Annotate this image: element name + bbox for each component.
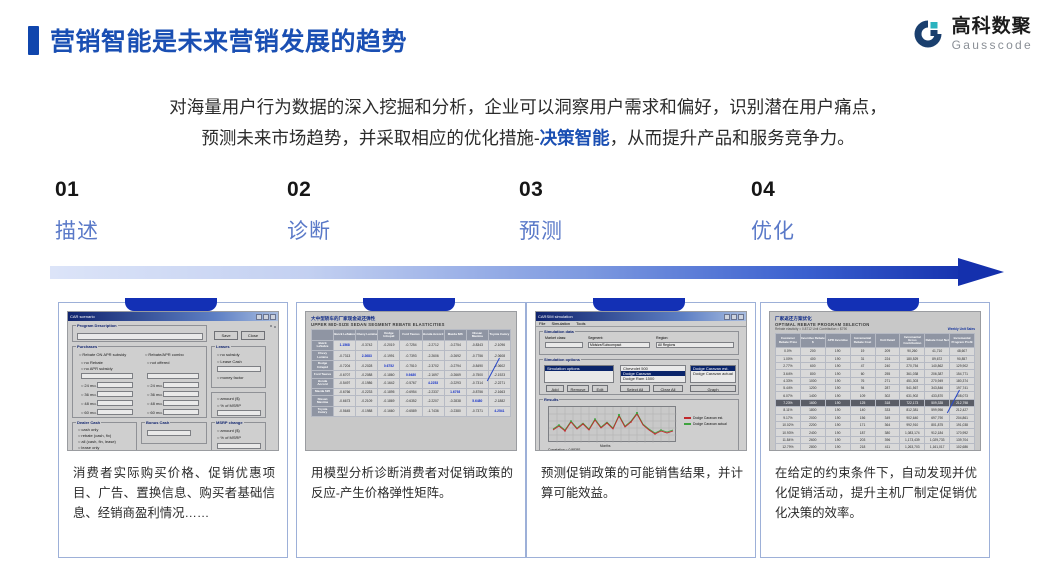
cell: -2.2606	[422, 351, 444, 361]
residual-input[interactable]	[217, 410, 261, 416]
term-36-rate-input[interactable]	[163, 391, 199, 397]
close-icon	[738, 314, 744, 320]
radio-msrp-amount[interactable]: amount ($)	[217, 428, 240, 433]
cell: 200	[800, 348, 825, 355]
cell: 197,741	[950, 385, 975, 392]
cell: 190	[825, 377, 850, 384]
group-label: Dealer Cash	[76, 420, 101, 425]
radio-residual-pct[interactable]: % of MSRP	[217, 403, 241, 408]
market-class-select[interactable]	[545, 342, 583, 348]
table-row: 9.17%2000190156349902,640697,790204,861	[776, 414, 975, 421]
row-header: Toyota Camry	[312, 406, 334, 416]
dialog-body: Program Description Save Close Purchases…	[68, 321, 278, 450]
list-item[interactable]: Dodge Caravan actual	[691, 371, 735, 376]
group-results: Results	[539, 399, 739, 451]
cell: 396	[875, 436, 900, 443]
cell: 1,263,703	[900, 444, 925, 451]
close-icon	[270, 314, 276, 320]
group-label: MSRP change	[215, 420, 244, 425]
row-header: Ford Taurus	[312, 371, 334, 378]
save-button[interactable]: Save	[214, 331, 238, 340]
table-row: 8.11%1800190140333812,381599,956212,427	[776, 407, 975, 414]
menu-tools[interactable]: Tools	[576, 321, 585, 326]
cell: 224	[875, 355, 900, 362]
cell: 1600	[800, 399, 825, 406]
cell: 190	[825, 399, 850, 406]
legend-label: Dodge Caravan est.	[693, 416, 723, 420]
minimize-icon	[256, 314, 262, 320]
card-screenshot-simulation: CARSIM simulation File Simulation Tools …	[535, 311, 747, 451]
term-label: 36 mo.	[147, 392, 163, 397]
cell: 0.0%	[776, 348, 801, 355]
chart-xlabel: Months	[600, 444, 610, 448]
cell: 190	[825, 429, 850, 436]
cell: 47	[850, 362, 875, 369]
cell: -0.1660	[378, 406, 400, 416]
output-list[interactable]: Dodge Caravan est. Dodge Caravan actual	[690, 365, 736, 383]
cell: 190	[825, 414, 850, 421]
table-row: 2.77%60019047240270,754140,862129,902	[776, 362, 975, 369]
cell: -0.7371	[466, 406, 488, 416]
optimization-table: Customer Rebate Price Incentive Rebate $…	[775, 333, 975, 451]
table-row: 11.84%26001902033961,173,4391,029,733139…	[776, 436, 975, 443]
step-label: 诊断	[287, 215, 517, 245]
step-02: 02 诊断	[287, 178, 517, 245]
list-item[interactable]: Ford Ranger	[621, 382, 685, 383]
logo-name-en: Gausscode	[952, 39, 1033, 51]
cell: -0.3742	[356, 340, 378, 350]
step-list: 01 描述 02 诊断 03 预测 04 优化	[55, 178, 1007, 248]
elasticity-matrix: 大中型轿车的厂家现金返还弹性 UPPER MID-SIZE SEDAN SEGM…	[306, 312, 516, 450]
lead-paragraph: 对海量用户行为数据的深入挖掘和分析，企业可以洞察用户需求和偏好，识别潜在用户痛点…	[52, 92, 1004, 154]
cell: -0.7314	[466, 378, 488, 388]
program-description-input[interactable]	[77, 333, 203, 340]
cell: 191,038	[950, 421, 975, 428]
radio-no-subsidy[interactable]: no subsidy	[217, 352, 240, 357]
cell: 4.33%	[776, 377, 801, 384]
cell: 270,754	[900, 362, 925, 369]
cell: 0.6752	[378, 361, 400, 371]
term-label: 60 mo.	[81, 410, 97, 415]
lead-line-2-before: 预测未来市场趋势，并采取相应的优化措施-	[201, 128, 539, 148]
card-caption: 预测促销政策的可能销售结果，并计算可能效益。	[541, 463, 743, 503]
page-title: 营销智能是未来营销发展的趋势	[28, 22, 407, 58]
cell: 102,686	[950, 444, 975, 451]
cell: 8.11%	[776, 407, 801, 414]
purchases-left-label: Rebate ON APR subsidy	[79, 352, 126, 357]
dialog-titlebar: CAR scenario	[68, 312, 278, 321]
progression-arrow	[50, 258, 1005, 288]
cell: 89,672	[925, 355, 950, 362]
radio-lease-only[interactable]: lease only	[78, 445, 99, 450]
prediction-chart	[548, 406, 676, 442]
radio-rebate-cash-fix[interactable]: rebate (cash, fix)	[78, 433, 111, 438]
simulation-titlebar: CARSIM simulation	[536, 312, 746, 321]
group-simulation-data: Simulation data Market class: Segment: M…	[539, 331, 739, 355]
cell: -0.7756	[466, 351, 488, 361]
logo-text: 高科数聚 Gausscode	[952, 17, 1033, 51]
cell: 2800	[800, 444, 825, 451]
cell: 1,029,733	[925, 436, 950, 443]
remove-button[interactable]: Remove	[567, 385, 589, 392]
opt-subtitle-right: Weekly Unit Sales	[948, 327, 975, 331]
group-program-description: Program Description	[72, 325, 207, 342]
cell: 209	[875, 348, 900, 355]
lead-line-2-after: ，从而提升产品和服务竞争力。	[610, 128, 855, 148]
cell: -0.2028	[356, 361, 378, 371]
cell: 5.6480	[466, 396, 488, 406]
cell: 204,861	[950, 414, 975, 421]
region-select[interactable]: All Regions	[656, 342, 734, 348]
card-predict[interactable]: CARSIM simulation File Simulation Tools …	[526, 302, 756, 558]
card-optimize[interactable]: 厂家返还方案优化 OPTIMAL REBATE PROGRAM SELECTIO…	[760, 302, 990, 558]
table-row: 10.02%2200190171364992,910801,875191,038	[776, 421, 975, 428]
minimize-icon	[724, 314, 730, 320]
legend-item: Dodge Caravan actual	[684, 422, 727, 426]
cell: 1200	[800, 385, 825, 392]
cell: -0.7204	[334, 361, 356, 371]
cell: 190	[825, 436, 850, 443]
col-header: Chevy Lumina	[356, 330, 378, 341]
cell: -0.2019	[378, 340, 400, 350]
cell: 5.44%	[776, 385, 801, 392]
cell: 433,870	[925, 392, 950, 399]
model-list[interactable]: Chevrolet 500 Dodge Caravan Dodge Ram 15…	[620, 365, 686, 383]
radio-residual-amount[interactable]: amount ($)	[217, 396, 240, 401]
lease-cash-input[interactable]	[217, 366, 261, 372]
cell: -0.2838	[444, 396, 466, 406]
radio-msrp-pct[interactable]: % of MSRP	[217, 435, 241, 440]
chart-legend: Dodge Caravan est. Dodge Caravan actual	[684, 416, 727, 426]
card-caption: 消费者实际购买价格、促销优惠项目、广告、置换信息、购买者基础信息、经销商盈利情况…	[73, 463, 275, 523]
legacy-dialog-window: CAR scenario Program Description Save Cl…	[68, 312, 278, 450]
cell: -2.2271	[488, 378, 510, 388]
cell: -0.6954	[400, 388, 422, 395]
card-screenshot-dialog: CAR scenario Program Description Save Cl…	[67, 311, 279, 451]
step-number: 01	[55, 178, 285, 202]
cell: -0.1895	[378, 388, 400, 395]
cell: -2.1882	[488, 396, 510, 406]
cell: -0.6707	[334, 371, 356, 378]
spacer-2	[274, 326, 276, 328]
card-tab-marker	[593, 298, 685, 311]
col-header: Customer Rebate Price	[776, 334, 801, 348]
cell: 1.00%	[776, 355, 801, 362]
cell: 697,790	[925, 414, 950, 421]
cell: 451,303	[900, 377, 925, 384]
term-48-input[interactable]	[97, 400, 133, 406]
cell: -0.1988	[356, 406, 378, 416]
term-36-input[interactable]	[97, 391, 133, 397]
cell: 125	[850, 399, 875, 406]
combo-value-input[interactable]	[147, 373, 199, 379]
radio-no-rebate[interactable]: no Rebate	[81, 360, 103, 365]
cell: 2.77%	[776, 362, 801, 369]
radio-no-apr-subsidy[interactable]: no APR subsidy	[81, 366, 113, 371]
cell: 1.6793	[444, 388, 466, 395]
step-number: 04	[751, 178, 981, 202]
cell: -0.1986	[356, 378, 378, 388]
group-dealer-cash: Dealer Cash cash only rebate (cash, fix)…	[72, 422, 137, 451]
cell: 190	[825, 444, 850, 451]
table-row: 5.44%120019094287541,567343,846197,741	[776, 385, 975, 392]
cell: -0.5497	[334, 378, 356, 388]
cell: 60	[850, 370, 875, 377]
cell: 190	[825, 385, 850, 392]
card-list: CAR scenario Program Description Save Cl…	[0, 296, 1051, 564]
cell: 7.23%	[776, 399, 801, 406]
menu-simulation[interactable]: Simulation	[551, 321, 570, 326]
arrow-head-icon	[958, 258, 1004, 286]
cell: -2.1663	[488, 388, 510, 395]
group-label: Bonus Cash	[145, 420, 170, 425]
cell: 509,335	[925, 399, 950, 406]
table-row: 0.0%2001901920990,26041,71048,607	[776, 348, 975, 355]
table-row: Toyota Camry -0.5645-0.1988-0.1660-0.658…	[312, 406, 511, 416]
legend-item: Dodge Caravan est.	[684, 416, 727, 420]
cell: 302	[875, 392, 900, 399]
opt-subtitle-left: Rebate elasticity = 0.8712 Unit Contribu…	[775, 327, 847, 331]
cell: 203	[850, 436, 875, 443]
bonus-cash-input[interactable]	[147, 430, 191, 436]
term-label: 24 mo.	[81, 383, 97, 388]
group-label: Simulation data	[543, 329, 575, 334]
segment-label: Segment:	[588, 336, 603, 340]
cell: 11.84%	[776, 436, 801, 443]
cell: 343,846	[925, 385, 950, 392]
cell: -0.1860	[378, 371, 400, 378]
cell: 287	[875, 385, 900, 392]
title-text: 营销智能是未来营销发展的趋势	[50, 22, 407, 58]
col-header: Buick LeSabre	[334, 330, 356, 341]
cell: 2400	[800, 429, 825, 436]
cell: 31	[850, 355, 875, 362]
term-60-rate-input[interactable]	[163, 409, 199, 415]
step-label: 预测	[519, 215, 749, 245]
group-residual: amount ($) % of MSRP	[211, 392, 266, 418]
cell: -0.8343	[466, 340, 488, 350]
cell: 364	[875, 421, 900, 428]
card-describe[interactable]: CAR scenario Program Description Save Cl…	[58, 302, 288, 558]
step-03: 03 预测	[519, 178, 749, 245]
clear-all-button[interactable]: Clear All	[653, 385, 683, 392]
card-screenshot-optimization: 厂家返还方案优化 OPTIMAL REBATE PROGRAM SELECTIO…	[769, 311, 981, 451]
table-row: 3.64%80019060255361,038206,387154,771	[776, 370, 975, 377]
cell: 812,381	[900, 407, 925, 414]
optimization-table-body: 0.0%2001901920990,26041,71048,607 1.00%4…	[776, 348, 975, 451]
edit-button[interactable]: Edit	[592, 385, 608, 392]
cell: 1,173,439	[900, 436, 925, 443]
opt-subtitle: Rebate elasticity = 0.8712 Unit Contribu…	[775, 327, 975, 331]
cell: 1,083,174	[900, 429, 925, 436]
lead-line-1: 对海量用户行为数据的深入挖掘和分析，企业可以洞察用户需求和偏好，识别潜在用户痛点…	[169, 97, 887, 117]
group-label: Simulation options	[543, 357, 581, 362]
cell: 206,387	[925, 370, 950, 377]
cell: -0.2754	[444, 340, 466, 350]
cell: -0.6766	[334, 388, 356, 395]
card-diagnose[interactable]: 大中型轿车的厂家现金返还弹性 UPPER MID-SIZE SEDAN SEGM…	[296, 302, 526, 558]
purchases-right-label: Rebate/APR combo	[145, 352, 184, 357]
cell: 140	[850, 407, 875, 414]
step-label: 描述	[55, 215, 285, 245]
cell: 139,704	[950, 436, 975, 443]
group-simulation-options: Simulation options Simulation options Ch…	[539, 359, 739, 395]
cell: -0.2669	[444, 371, 466, 378]
title-accent-bar	[28, 26, 39, 55]
cell: 212,427	[950, 407, 975, 414]
cell: 1.1568	[334, 340, 356, 350]
col-header: Ford Taurus	[400, 330, 422, 341]
cell: 4.2541	[488, 406, 510, 416]
cell: -2.2337	[422, 388, 444, 395]
table-row: Nissan Maxima -0.6673-0.2109-0.1869-0.63…	[312, 396, 511, 406]
radio-all[interactable]: all (cash, fin, lease)	[78, 439, 116, 444]
cell: -2.2712	[422, 340, 444, 350]
term-label: 24 mo.	[147, 383, 163, 388]
cell: 170,992	[950, 429, 975, 436]
list-item[interactable]: Simulation options	[545, 366, 613, 371]
cell: 190	[825, 421, 850, 428]
cell: 2600	[800, 436, 825, 443]
group-leases: Leases no subsidy Lease Cash money facto…	[211, 346, 266, 388]
cell: 190	[825, 392, 850, 399]
segment-select[interactable]: Midsize/Subcompact	[588, 342, 650, 348]
correlation-text: Correlation = 0.98381	[548, 448, 581, 451]
cell: 76	[850, 377, 875, 384]
col-header: Nissan Maxima	[466, 330, 488, 341]
table-row: Buick LeSabre 1.1568-0.3742-0.2019-0.725…	[312, 340, 511, 350]
dialog-title-text: CAR scenario	[70, 314, 95, 319]
cell: 2200	[800, 421, 825, 428]
radio-cash-only[interactable]: cash only	[78, 427, 98, 432]
cell: -0.1642	[378, 378, 400, 388]
cell: -0.2293	[444, 378, 466, 388]
col-header: Rebate Cost Net	[925, 334, 950, 348]
cell: 361,038	[900, 370, 925, 377]
cell: -0.1991	[378, 351, 400, 361]
col-header: Dodge Intrepid	[378, 330, 400, 341]
cell: 94	[850, 385, 875, 392]
cell: 6.07%	[776, 392, 801, 399]
cell: -0.2109	[356, 396, 378, 406]
maximize-icon	[263, 314, 269, 320]
cell: 190	[825, 370, 850, 377]
card-tab-marker	[125, 298, 217, 311]
elasticity-table: Buick LeSabre Chevy Lumina Dodge Intrepi…	[311, 329, 511, 417]
cell: 48,607	[950, 348, 975, 355]
cell: 10.93%	[776, 429, 801, 436]
cell: 600	[800, 362, 825, 369]
group-purchases: Purchases Rebate ON APR subsidy Rebate/A…	[72, 346, 207, 418]
cell: 380	[875, 429, 900, 436]
cell: 140,862	[925, 362, 950, 369]
cell: 12.79%	[776, 444, 801, 451]
cell: -0.2380	[444, 406, 466, 416]
logo-name-cn: 高科数聚	[952, 17, 1033, 36]
step-04: 04 优化	[751, 178, 981, 245]
cell: -0.7500	[466, 371, 488, 378]
select-all-button[interactable]: Select All	[620, 385, 650, 392]
lease-cash-label: Lease Cash	[217, 359, 242, 364]
add-button[interactable]: Add	[546, 385, 564, 392]
col-header: Toyota Camry	[488, 330, 510, 341]
table-row: 4.33%100019076271451,303270,949180,374	[776, 377, 975, 384]
graph-button[interactable]: Graph	[690, 385, 736, 392]
cell: -2.1697	[422, 371, 444, 378]
cell: -0.2088	[356, 371, 378, 378]
term-24-input[interactable]	[97, 382, 133, 388]
cell: 800	[800, 370, 825, 377]
cell: 318	[875, 399, 900, 406]
arrow-shaft	[50, 266, 970, 279]
close-button[interactable]: Close	[241, 331, 265, 340]
scenario-list[interactable]: Simulation options	[544, 365, 614, 383]
table-row: Chevy Lumina -0.73132.2683-0.1991-0.7393…	[312, 351, 511, 361]
cell: 1800	[800, 407, 825, 414]
cell: 90,857	[950, 355, 975, 362]
col-header: Incremental Gross Contribution	[900, 334, 925, 348]
row-header: Buick LeSabre	[312, 340, 334, 350]
cell: -0.6589	[400, 406, 422, 416]
step-label: 优化	[751, 215, 981, 245]
msrp-change-input[interactable]	[217, 443, 261, 449]
menu-file[interactable]: File	[539, 321, 545, 326]
purchase-value-input[interactable]	[81, 373, 133, 379]
cell: 992,910	[900, 421, 925, 428]
term-60-input[interactable]	[97, 409, 133, 415]
cell: 1000	[800, 377, 825, 384]
cell: 190	[825, 348, 850, 355]
col-header: Incremental Program Profit	[950, 334, 975, 348]
cell: 2000	[800, 414, 825, 421]
col-header: Honda Accord	[422, 330, 444, 341]
group-bonus-cash: Bonus Cash	[141, 422, 207, 444]
cell: 180,374	[950, 377, 975, 384]
col-header: APR Incentive	[825, 334, 850, 348]
table-row: Ford Taurus -0.6707-0.2088-0.18600.9480-…	[312, 371, 511, 378]
table-row: 12.79%28001902184111,263,7031,161,017102…	[776, 444, 975, 451]
term-24-rate-input[interactable]	[163, 382, 199, 388]
col-header: Unit Retail	[875, 334, 900, 348]
group-msrp-change: MSRP change amount ($) % of MSRP	[211, 422, 266, 451]
col-header: Incentive Rebate $	[800, 334, 825, 348]
cell: 599,956	[925, 407, 950, 414]
table-row: Honda Accord -0.5497-0.1986-0.1642-0.576…	[312, 378, 511, 388]
cell: 349	[875, 414, 900, 421]
card-tab-marker	[827, 298, 919, 311]
cell: 41,710	[925, 348, 950, 355]
cell: -0.7254	[400, 340, 422, 350]
row-header: Honda Accord	[312, 378, 334, 388]
cell: 333	[875, 407, 900, 414]
term-label: 48 mo.	[147, 401, 163, 406]
radio-not-offered[interactable]: not offered	[147, 360, 169, 365]
simulation-body: Simulation data Market class: Segment: M…	[536, 327, 746, 450]
term-label: 60 mo.	[147, 410, 163, 415]
cell: 218	[850, 444, 875, 451]
cell: 109	[850, 392, 875, 399]
term-48-rate-input[interactable]	[163, 400, 199, 406]
cell: 255	[875, 370, 900, 377]
table-row: Mazda 626 -0.6766-0.2233-0.1895-0.6954-2…	[312, 388, 511, 395]
radio-money-factor[interactable]: money factor	[217, 375, 244, 380]
optimization-table-shot: 厂家返还方案优化 OPTIMAL REBATE PROGRAM SELECTIO…	[770, 312, 980, 450]
cell: 19	[850, 348, 875, 355]
cell: -0.5767	[400, 378, 422, 388]
row-header: Mazda 626	[312, 388, 334, 395]
col-header: Incremental Rebate Cost	[850, 334, 875, 348]
cell: -0.6673	[334, 396, 356, 406]
